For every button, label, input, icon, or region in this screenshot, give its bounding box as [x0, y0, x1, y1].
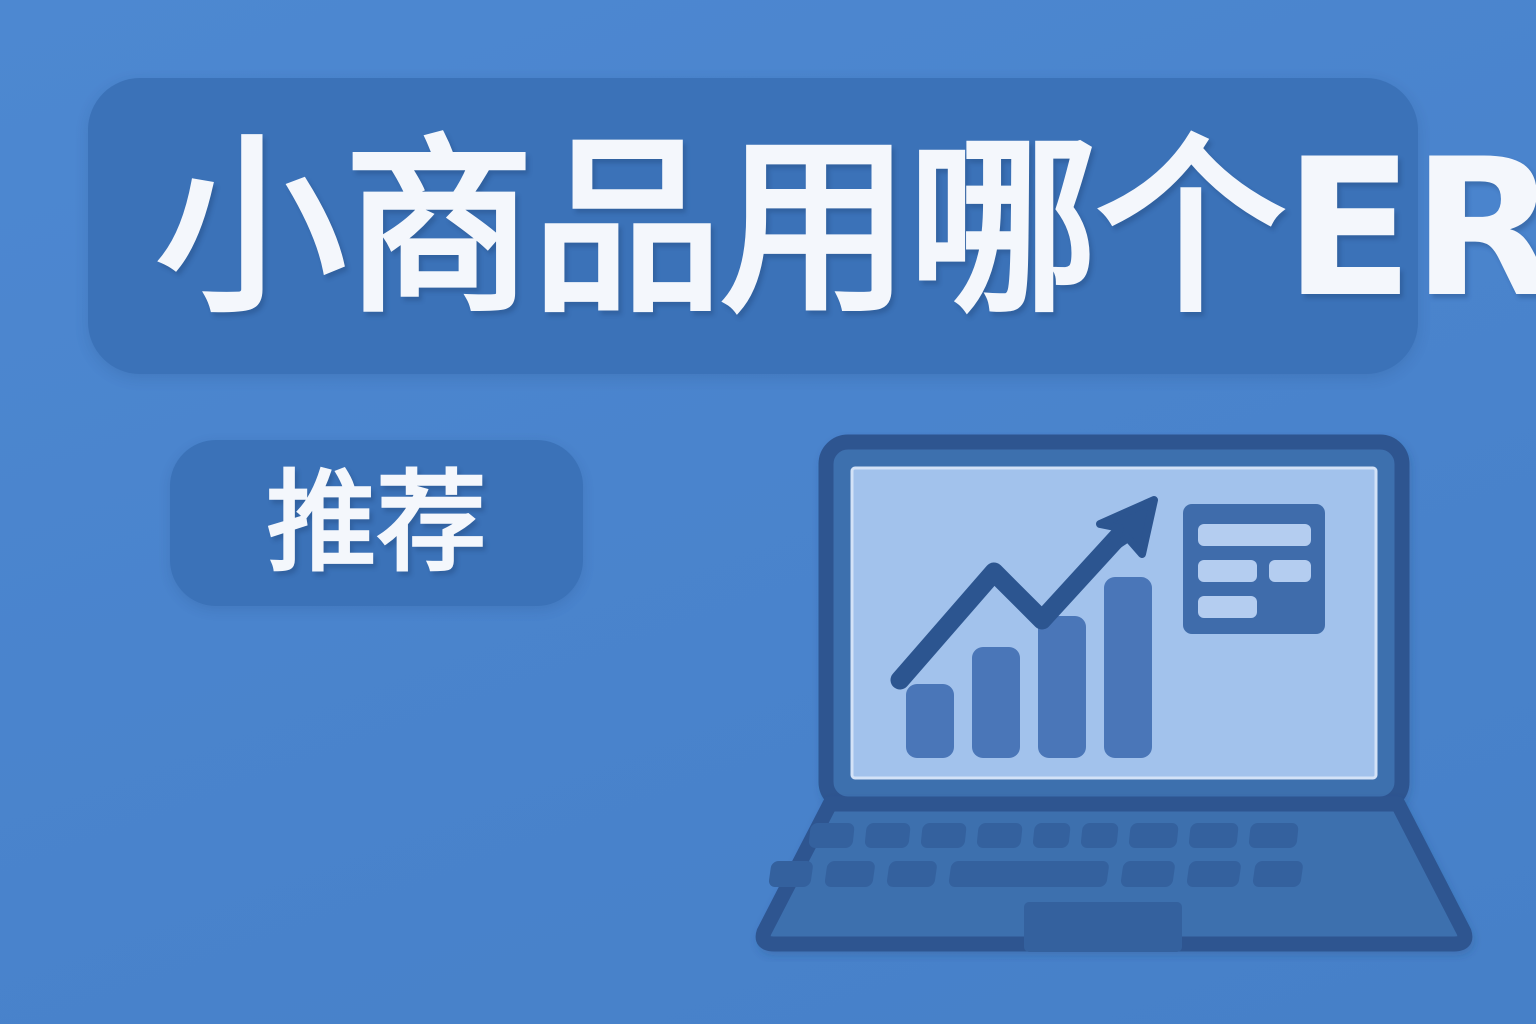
- subtitle-badge-label: 推荐: [170, 440, 583, 606]
- key: [1128, 823, 1179, 848]
- poster-canvas: 小商品用哪个ERP 推荐: [0, 0, 1536, 1024]
- form-panel-row-2b: [1269, 560, 1311, 582]
- key: [1252, 861, 1304, 887]
- page-title: 小商品用哪个ERP: [156, 119, 1536, 339]
- chart-bar-2: [972, 647, 1020, 758]
- form-panel-row-3: [1198, 596, 1257, 618]
- chart-bar-3: [1038, 616, 1086, 758]
- key: [920, 823, 967, 848]
- laptop-svg: [742, 432, 1482, 962]
- key: [886, 861, 938, 887]
- key: [1186, 861, 1242, 887]
- subtitle-badge: 推荐: [170, 440, 583, 606]
- form-panel-row-2a: [1198, 560, 1257, 582]
- trackpad: [1024, 902, 1182, 952]
- key: [864, 823, 911, 848]
- chart-bar-4: [1104, 577, 1152, 758]
- key: [1188, 823, 1239, 848]
- key: [1080, 823, 1119, 848]
- key: [1120, 861, 1176, 887]
- dashboard-form-panel: [1183, 504, 1325, 634]
- form-panel-row-1: [1198, 524, 1311, 546]
- key: [976, 823, 1023, 848]
- spacebar-key: [948, 861, 1110, 887]
- chart-bar-1: [906, 684, 954, 758]
- keyboard-row-1: [808, 823, 1299, 848]
- key: [808, 823, 855, 848]
- key: [824, 861, 876, 887]
- key: [1248, 823, 1299, 848]
- keyboard-row-2: [768, 861, 1304, 887]
- laptop-illustration: [742, 432, 1482, 962]
- key: [768, 861, 814, 887]
- key: [1032, 823, 1071, 848]
